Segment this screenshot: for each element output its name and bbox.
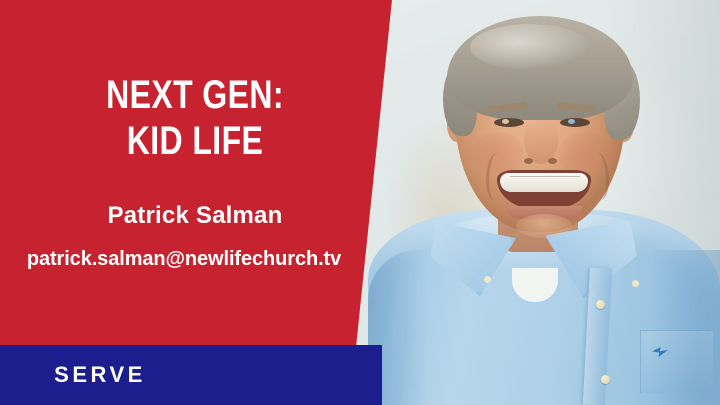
hair-sheen xyxy=(470,24,590,70)
nostril-right xyxy=(548,158,557,164)
eye-highlight-right xyxy=(568,119,575,124)
nostril-left xyxy=(524,158,533,164)
slide-canvas: NEXT GEN: KID LIFE Patrick Salman patric… xyxy=(0,0,720,405)
teeth xyxy=(500,173,588,192)
shirt-button-upper xyxy=(596,300,605,309)
shirt-pocket xyxy=(640,330,713,393)
eye-right xyxy=(560,118,590,127)
eye-left xyxy=(494,118,524,127)
eye-highlight-left xyxy=(502,119,509,124)
collar-button-left xyxy=(484,276,491,283)
teeth-gap-line xyxy=(510,176,580,177)
footer-bar: SERVE xyxy=(0,345,382,405)
red-panel xyxy=(0,0,400,347)
chin-highlight xyxy=(516,214,572,238)
footer-label: SERVE xyxy=(54,362,146,388)
collar-button-right xyxy=(632,280,639,287)
shirt-button-lower xyxy=(601,375,610,384)
